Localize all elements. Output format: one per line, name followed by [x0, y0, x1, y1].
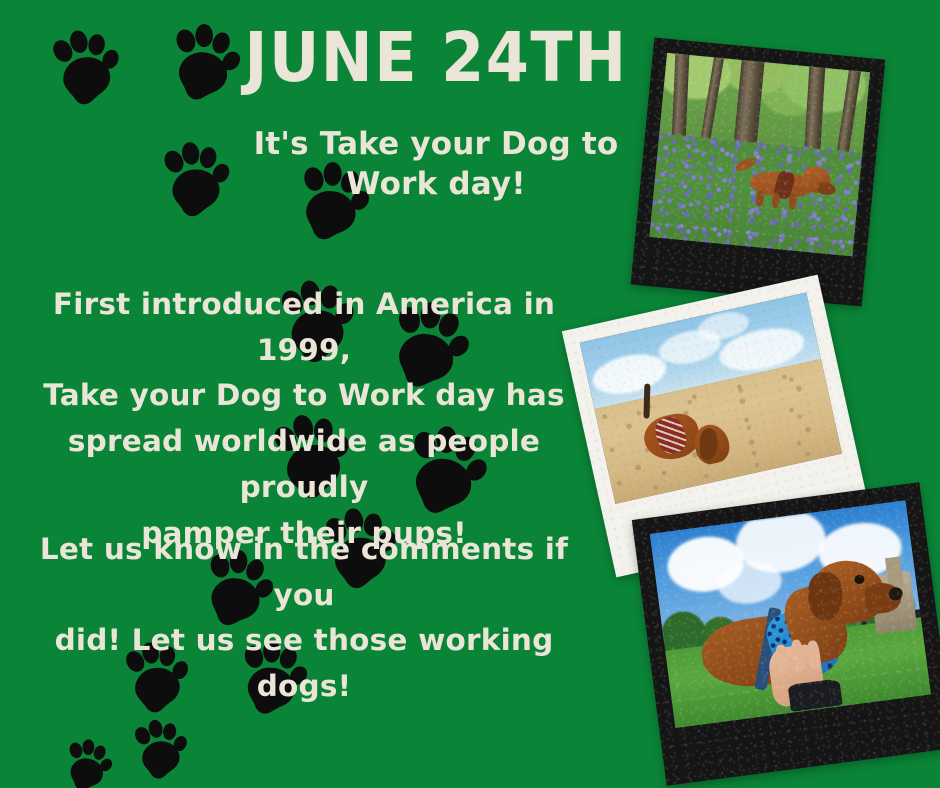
poster-body-paragraph-1: First introduced in America in 1999, Tak… — [16, 282, 592, 556]
page-title: JUNE 24TH — [236, 24, 636, 92]
poster-subtitle: It's Take your Dog to Work day! — [245, 124, 627, 205]
poster-text: JUNE 24TH It's Take your Dog to Work day… — [0, 0, 940, 788]
poster-body-paragraph-2: Let us know in the comments if you did! … — [16, 527, 592, 710]
poster-canvas: JUNE 24TH It's Take your Dog to Work day… — [0, 0, 940, 788]
